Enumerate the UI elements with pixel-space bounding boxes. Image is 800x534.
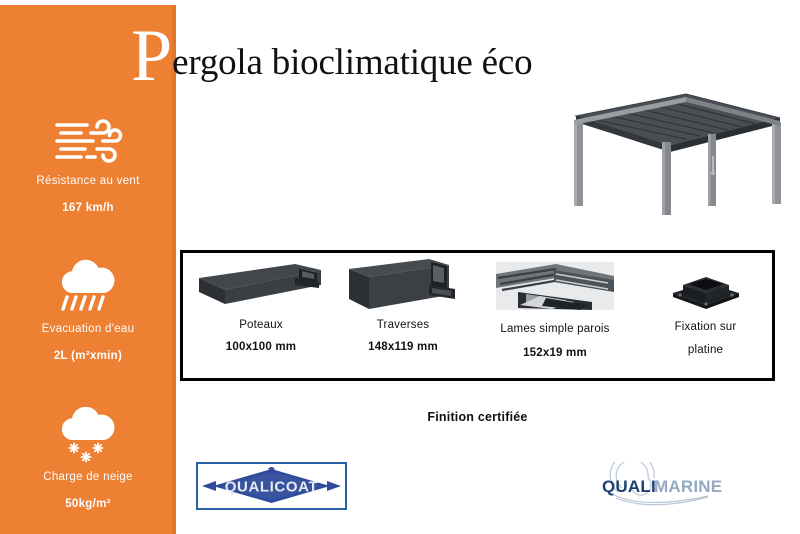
component-lames-size: 152x19 mm bbox=[475, 347, 635, 359]
certification-heading: Finition certifiée bbox=[180, 410, 775, 424]
qualimarine-logo: QUALI MARINE bbox=[588, 462, 738, 508]
page-title-text: ergola bioclimatique éco bbox=[172, 43, 532, 83]
pergola-hero-image bbox=[566, 80, 790, 225]
component-fixation-size: platine bbox=[638, 344, 773, 356]
component-fixation-name: Fixation sur bbox=[638, 321, 773, 333]
feature-wind-label: Résistance au vent bbox=[0, 175, 176, 189]
component-poteaux-name: Poteaux bbox=[191, 319, 331, 331]
page-title-dropcap: P bbox=[131, 28, 172, 84]
feature-water-evacuation: Evacuation d'eau 2L (m²xmin) bbox=[0, 257, 176, 364]
component-poteaux-size: 100x100 mm bbox=[191, 341, 331, 353]
component-traverses-size: 148x119 mm bbox=[333, 341, 473, 353]
component-lames: Lames simple parois 152x19 mm bbox=[475, 253, 635, 378]
component-traverses: Traverses 148x119 mm bbox=[333, 253, 473, 378]
component-traverses-name: Traverses bbox=[333, 319, 473, 331]
lames-simple-parois-photo bbox=[475, 257, 635, 315]
component-poteaux: Poteaux 100x100 mm bbox=[191, 253, 331, 378]
svg-text:QUALI: QUALI bbox=[602, 477, 656, 496]
page-title: P ergola bioclimatique éco bbox=[131, 22, 532, 83]
wind-icon bbox=[0, 109, 176, 171]
feature-water-value: 2L (m²xmin) bbox=[0, 350, 176, 364]
feature-water-label: Evacuation d'eau bbox=[0, 323, 176, 337]
svg-text:MARINE: MARINE bbox=[654, 477, 722, 496]
qualicoat-logo: QUALICOAT bbox=[196, 462, 347, 510]
feature-snow-load: Charge de neige 50kg/m² bbox=[0, 405, 176, 512]
traverse-profile-photo bbox=[333, 257, 473, 315]
rain-cloud-icon bbox=[0, 257, 176, 319]
feature-wind-value: 167 km/h bbox=[0, 202, 176, 216]
snow-cloud-icon bbox=[0, 405, 176, 467]
feature-snow-value: 50kg/m² bbox=[0, 498, 176, 512]
svg-text:QUALICOAT: QUALICOAT bbox=[225, 479, 318, 496]
poteau-profile-photo bbox=[191, 257, 331, 315]
product-sheet-page: Résistance au vent 167 km/h Evacuation d… bbox=[0, 0, 800, 534]
fixation-platine-photo bbox=[638, 257, 773, 315]
feature-snow-label: Charge de neige bbox=[0, 471, 176, 485]
feature-wind-resistance: Résistance au vent 167 km/h bbox=[0, 109, 176, 216]
components-box: Poteaux 100x100 mm Traverses 148x119 mm bbox=[180, 250, 775, 381]
component-lames-name: Lames simple parois bbox=[475, 323, 635, 335]
component-fixation: Fixation sur platine bbox=[638, 253, 773, 378]
